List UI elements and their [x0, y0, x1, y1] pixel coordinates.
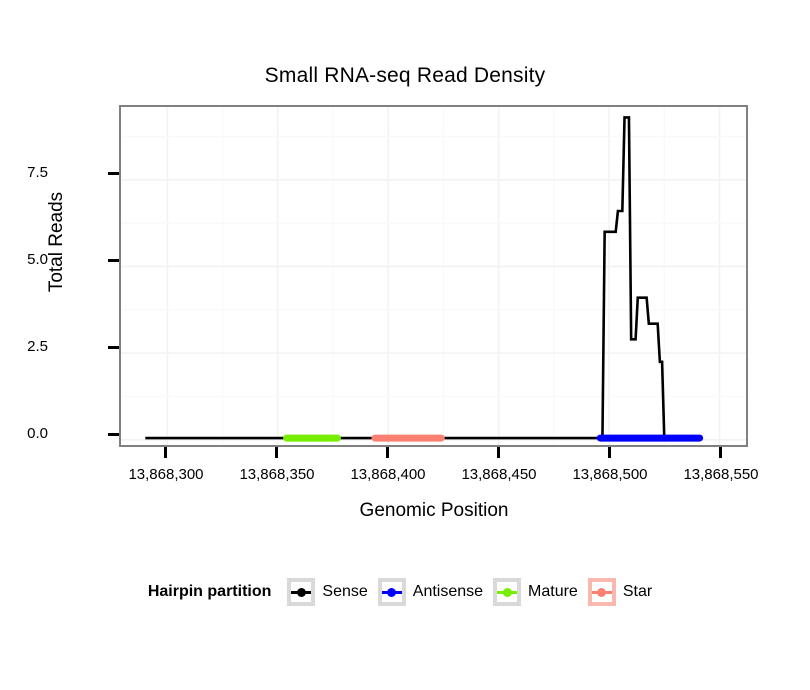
- y-tick-mark-2-5: [108, 346, 119, 349]
- plot-panel: [119, 105, 748, 447]
- plot-area: [121, 107, 746, 445]
- x-tick-mark-4: [497, 447, 500, 458]
- legend-point-icon: [387, 588, 396, 597]
- data-layer: [145, 117, 699, 438]
- x-tick-label-6: 13,868,550: [651, 466, 791, 483]
- y-axis-title: Total Reads: [46, 142, 68, 342]
- legend-entry-antisense[interactable]: Antisense: [378, 578, 483, 606]
- legend-label-mature: Mature: [528, 583, 578, 601]
- legend-entry-star[interactable]: Star: [588, 578, 652, 606]
- chart-figure: Small RNA-seq Read Density Total Reads 7…: [0, 0, 810, 690]
- grid-layer: [121, 107, 746, 445]
- legend-point-icon: [597, 588, 606, 597]
- legend-key-antisense: [378, 578, 406, 606]
- legend-entry-sense[interactable]: Sense: [287, 578, 367, 606]
- legend-point-icon: [503, 588, 512, 597]
- legend-point-icon: [297, 588, 306, 597]
- y-tick-mark-7-5: [108, 172, 119, 175]
- series-line-sense: [145, 117, 682, 438]
- y-tick-label-7-5: 7.5: [0, 164, 48, 181]
- chart-legend: Hairpin partition Sense Antisense Mature: [0, 578, 810, 606]
- x-tick-mark-3: [386, 447, 389, 458]
- x-tick-mark-2: [275, 447, 278, 458]
- y-tick-label-5-0: 5.0: [0, 251, 48, 268]
- legend-label-antisense: Antisense: [413, 583, 483, 601]
- plot-svg: [121, 107, 746, 445]
- y-tick-mark-5-0: [108, 259, 119, 262]
- x-tick-mark-1: [164, 447, 167, 458]
- x-tick-mark-5: [608, 447, 611, 458]
- legend-title: Hairpin partition: [148, 583, 272, 601]
- legend-key-mature: [493, 578, 521, 606]
- legend-label-sense: Sense: [322, 583, 367, 601]
- x-tick-mark-6: [719, 447, 722, 458]
- y-tick-mark-0-0: [108, 433, 119, 436]
- legend-key-star: [588, 578, 616, 606]
- x-axis-title: Genomic Position: [119, 500, 749, 522]
- legend-label-star: Star: [623, 583, 652, 601]
- y-tick-label-0-0: 0.0: [0, 425, 48, 442]
- chart-title: Small RNA-seq Read Density: [0, 64, 810, 88]
- y-tick-label-2-5: 2.5: [0, 338, 48, 355]
- legend-key-sense: [287, 578, 315, 606]
- legend-entry-mature[interactable]: Mature: [493, 578, 578, 606]
